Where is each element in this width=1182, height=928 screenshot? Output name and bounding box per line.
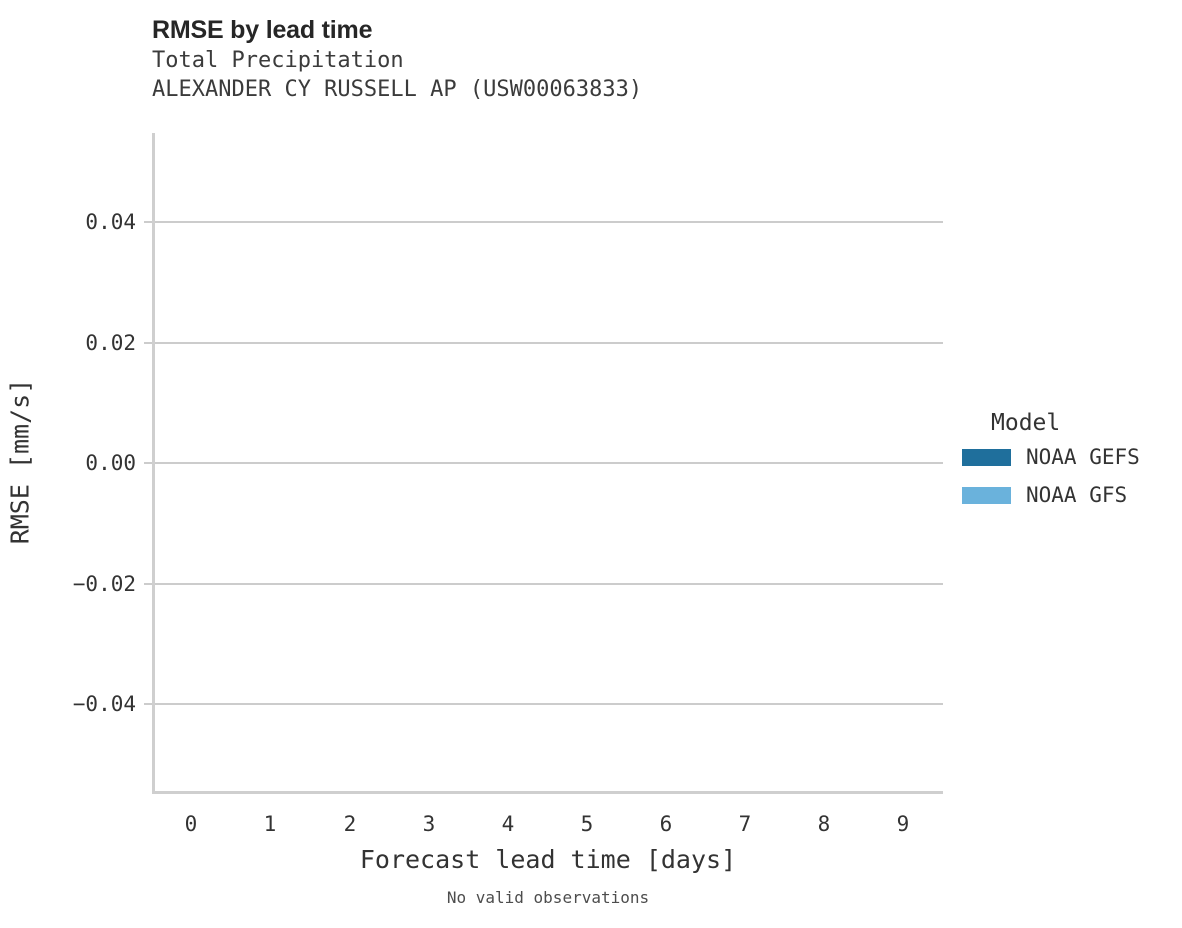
chart-subtitle-station: ALEXANDER CY RUSSELL AP (USW00063833) (152, 75, 642, 104)
legend-item-noaa-gfs[interactable]: NOAA GFS (962, 476, 1172, 514)
xtick-label-1: 1 (264, 812, 277, 836)
axis-spine-left (152, 133, 155, 794)
ytick-label-3: −0.02 (73, 572, 136, 596)
xtick-label-4: 4 (502, 812, 515, 836)
chart-subtitle-variable: Total Precipitation (152, 46, 642, 75)
legend-label-noaa-gefs: NOAA GEFS (1026, 445, 1140, 469)
ytick-label-4: −0.04 (73, 692, 136, 716)
gridline-0.04 (155, 221, 943, 223)
xtick-label-9: 9 (897, 812, 910, 836)
page-title: RMSE by lead time (152, 14, 642, 46)
gridline-minus-0.02 (155, 583, 943, 585)
ytick-label-1: 0.02 (85, 331, 136, 355)
gridline-minus-0.04 (155, 703, 943, 705)
xtick-label-7: 7 (739, 812, 752, 836)
gridline-0.00 (155, 462, 943, 464)
xtick-label-5: 5 (581, 812, 594, 836)
legend: Model NOAA GEFS NOAA GFS (962, 408, 1172, 514)
ytick-label-0: 0.04 (85, 210, 136, 234)
title-block: RMSE by lead time Total Precipitation AL… (152, 14, 642, 104)
legend-swatch-icon-noaa-gfs (962, 487, 1011, 504)
no-data-note: No valid observations (0, 888, 1096, 907)
y-axis-label: RMSE [mm/s] (6, 262, 35, 662)
xtick-label-2: 2 (344, 812, 357, 836)
xtick-label-6: 6 (660, 812, 673, 836)
xtick-label-8: 8 (818, 812, 831, 836)
legend-label-noaa-gfs: NOAA GFS (1026, 483, 1127, 507)
legend-swatch-icon-noaa-gefs (962, 449, 1011, 466)
legend-title: Model (962, 408, 1172, 438)
legend-item-noaa-gefs[interactable]: NOAA GEFS (962, 438, 1172, 476)
xtick-label-3: 3 (423, 812, 436, 836)
axis-spine-bottom (152, 791, 943, 794)
gridline-0.02 (155, 342, 943, 344)
x-axis-label: Forecast lead time [days] (0, 845, 1096, 874)
ytick-label-2: 0.00 (85, 451, 136, 475)
chart-figure: RMSE by lead time Total Precipitation AL… (0, 0, 1182, 928)
xtick-label-0: 0 (185, 812, 198, 836)
